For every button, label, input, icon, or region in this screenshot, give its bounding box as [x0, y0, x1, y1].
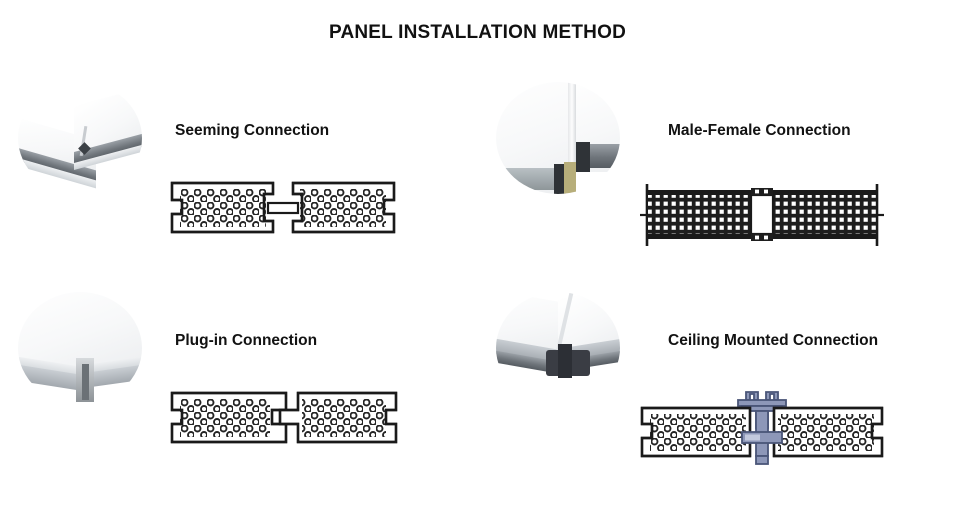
- seeming-connection-cross-section: [168, 176, 398, 251]
- male-female-connection-photo: [496, 82, 620, 194]
- method-block-male-female: Male-Female Connection: [478, 78, 955, 293]
- connection-label-seeming: Seeming Connection: [175, 122, 475, 140]
- plug-in-connection-cross-section: [168, 386, 400, 461]
- seeming-connection-photo: [18, 82, 142, 194]
- ceiling-mounted-connection-cross-section: [638, 386, 886, 477]
- method-block-seeming: Seeming Connection: [0, 78, 477, 293]
- method-block-ceiling-mounted: Ceiling Mounted Connection: [478, 288, 955, 503]
- connection-label-plug-in: Plug-in Connection: [175, 332, 475, 350]
- method-block-plug-in: Plug-in Connection: [0, 288, 477, 503]
- male-female-connection-cross-section: [638, 176, 886, 259]
- plug-in-connection-photo: [18, 292, 142, 404]
- page-title: PANEL INSTALLATION METHOD: [0, 22, 955, 44]
- ceiling-mounted-connection-photo: [496, 292, 620, 404]
- connection-label-ceiling-mounted: Ceiling Mounted Connection: [668, 332, 955, 350]
- connection-label-male-female: Male-Female Connection: [668, 122, 955, 140]
